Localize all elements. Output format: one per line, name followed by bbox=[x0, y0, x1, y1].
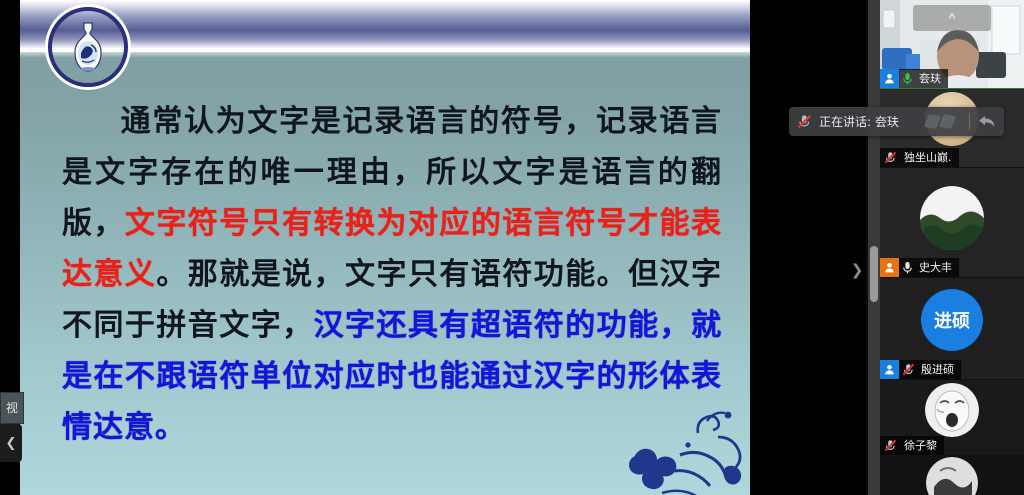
mic-muted-icon bbox=[880, 439, 901, 452]
active-speaker-toast: 正在讲话: 夽玞 bbox=[789, 107, 1004, 136]
active-speaker-label: 正在讲话: 夽玞 bbox=[819, 113, 911, 130]
chevron-left-icon[interactable]: ❮ bbox=[0, 424, 22, 462]
person-icon bbox=[880, 360, 899, 379]
avatar-initials: 进硕 bbox=[934, 307, 970, 333]
mic-on-icon bbox=[899, 72, 916, 85]
participant-nameplate: 殷进硕 bbox=[880, 360, 961, 379]
presentation-slide: 通常认为文字是记录语言的符号，记录语言是文字存在的唯一理由，所以文字是语言的翻版… bbox=[20, 0, 750, 495]
person-icon bbox=[880, 258, 899, 277]
participant-tile-4[interactable]: 进硕 殷进硕 bbox=[880, 278, 1024, 380]
reply-arrow-icon[interactable] bbox=[970, 114, 1004, 129]
avatar bbox=[920, 186, 984, 250]
chevron-up-icon[interactable]: ^ bbox=[913, 5, 991, 31]
participant-nameplate: 徐子黎 bbox=[880, 436, 944, 455]
avatar bbox=[925, 383, 979, 437]
avatar bbox=[926, 457, 978, 495]
blue-floral-ornament-icon bbox=[576, 375, 750, 495]
mic-on-icon bbox=[899, 261, 916, 274]
meeting-screen-share-window: 通常认为文字是记录语言的符号，记录语言是文字存在的唯一理由，所以文字是语言的翻版… bbox=[0, 0, 1024, 495]
participant-nameplate: 史大丰 bbox=[880, 258, 959, 277]
slide-header-band bbox=[20, 0, 750, 52]
participant-tile-5[interactable]: 徐子黎 bbox=[880, 380, 1024, 456]
participant-video-strip[interactable]: ^ 夽玞 独坐山巅. bbox=[880, 0, 1024, 495]
participant-name: 独坐山巅. bbox=[901, 148, 952, 167]
left-flyout-tab[interactable]: 视 bbox=[0, 392, 24, 424]
participant-name: 夽玞 bbox=[916, 69, 941, 88]
participant-nameplate: 夽玞 bbox=[880, 69, 948, 88]
participant-tile-3[interactable]: 史大丰 bbox=[880, 168, 1024, 278]
person-icon bbox=[880, 69, 899, 88]
scrollbar-thumb[interactable] bbox=[870, 246, 878, 302]
participant-tile-1[interactable]: ^ 夽玞 bbox=[880, 0, 1024, 89]
participant-name: 史大丰 bbox=[916, 258, 952, 277]
participant-name: 徐子黎 bbox=[901, 436, 937, 455]
chevron-right-icon[interactable]: ❯ bbox=[849, 258, 865, 284]
shared-screen-area: 通常认为文字是记录语言的符号，记录语言是文字存在的唯一理由，所以文字是语言的翻版… bbox=[0, 0, 866, 495]
participant-nameplate: 独坐山巅. bbox=[880, 148, 959, 167]
participant-name: 殷进硕 bbox=[918, 360, 954, 379]
mic-muted-icon bbox=[880, 151, 901, 164]
mic-muted-icon bbox=[789, 114, 819, 129]
avatar: 进硕 bbox=[921, 289, 983, 351]
participant-tile-6[interactable] bbox=[880, 456, 1024, 495]
reaction-hands-icon[interactable] bbox=[911, 115, 969, 128]
mic-muted-icon bbox=[899, 363, 918, 376]
porcelain-vase-logo-icon bbox=[48, 7, 128, 87]
video-strip-scrollbar[interactable] bbox=[868, 0, 880, 495]
